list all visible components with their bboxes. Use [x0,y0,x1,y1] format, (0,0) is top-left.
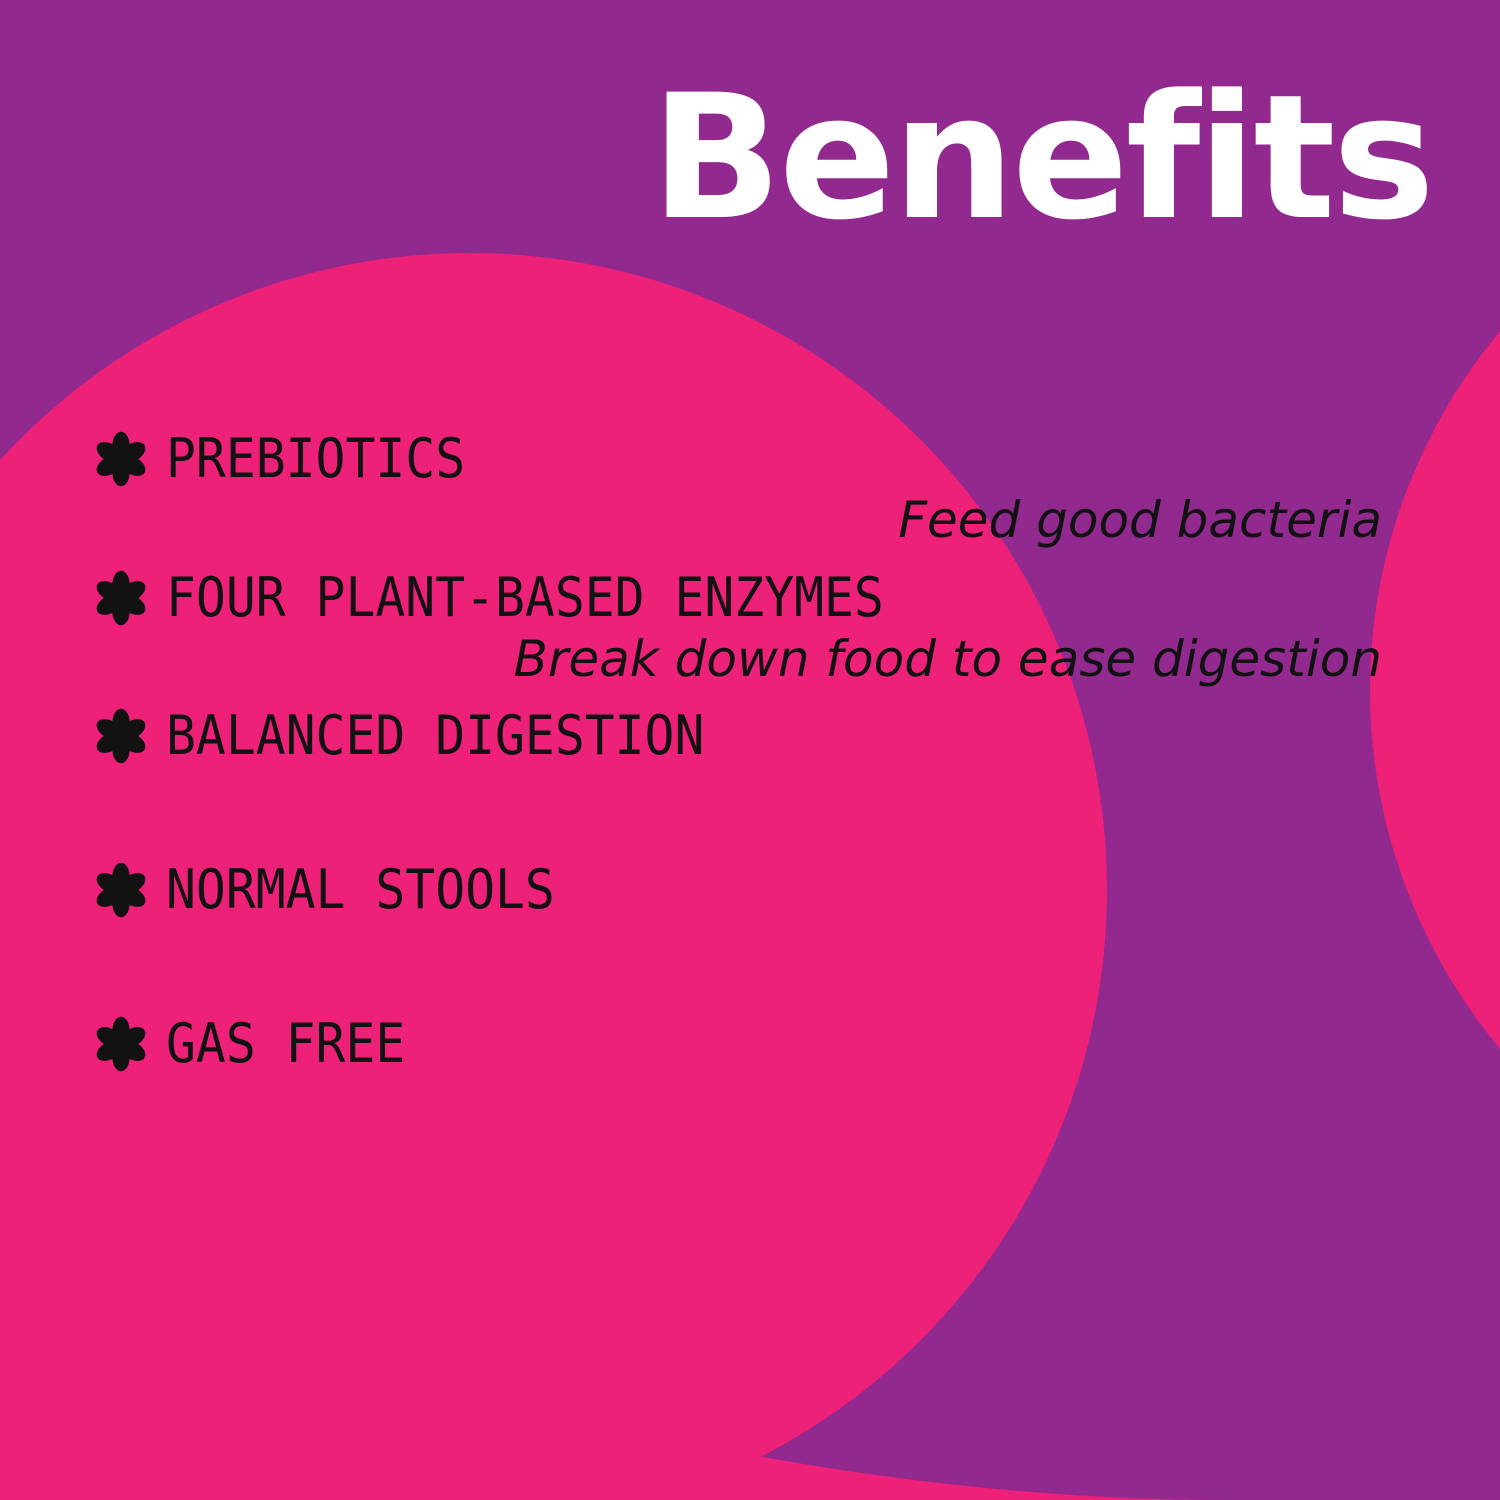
flower-asterisk-icon [92,569,150,627]
benefits-list: PREBIOTICS Feed good bacteria [0,430,1420,1073]
flower-asterisk-icon [92,430,150,488]
list-item: BALANCED DIGESTION [0,707,1420,765]
flower-asterisk-icon [92,861,150,919]
benefit-label: PREBIOTICS [166,431,465,486]
page-title: Benefits [0,72,1432,244]
benefit-label: GAS FREE [166,1016,405,1071]
benefit-label: NORMAL STOOLS [166,862,555,917]
benefit-row: FOUR PLANT-BASED ENZYMES [0,569,1420,627]
list-item: GAS FREE [0,1015,1420,1073]
spacer [0,919,1420,1015]
benefit-subtext: Break down food to ease digestion [0,633,1420,686]
list-item: NORMAL STOOLS [0,861,1420,919]
benefit-row: PREBIOTICS [0,430,1420,488]
flower-asterisk-icon [92,1015,150,1073]
benefit-row: NORMAL STOOLS [0,861,1420,919]
benefit-subtext: Feed good bacteria [0,494,1420,547]
spacer [0,765,1420,861]
list-item: PREBIOTICS Feed good bacteria [0,430,1420,547]
benefit-row: GAS FREE [0,1015,1420,1073]
list-item: FOUR PLANT-BASED ENZYMES Break down food… [0,569,1420,686]
flower-asterisk-icon [92,707,150,765]
benefit-label: FOUR PLANT-BASED ENZYMES [166,570,884,625]
benefits-poster: Benefits PREBI [0,0,1500,1500]
benefit-row: BALANCED DIGESTION [0,707,1420,765]
benefit-label: BALANCED DIGESTION [166,708,704,763]
